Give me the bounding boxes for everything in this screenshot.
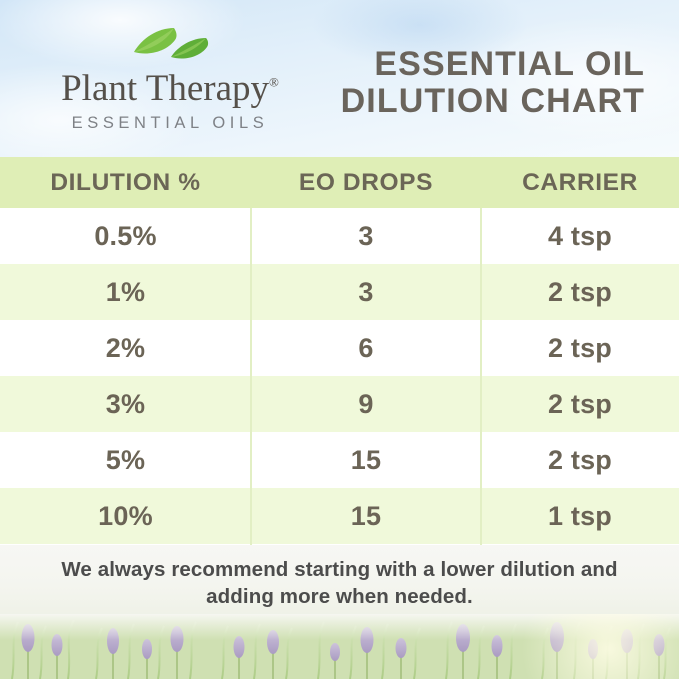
page-title-line2: DILUTION CHART [341,83,645,120]
column-header-carrier: CARRIER [481,157,679,208]
header-sky-background: Plant Therapy® ESSENTIAL OILS ESSENTIAL … [0,0,679,157]
cell-drops: 15 [251,432,481,488]
cell-dilution: 3% [0,376,251,432]
cell-dilution: 1% [0,264,251,320]
two-leaves-icon [128,26,212,66]
table-row: 3% 9 2 tsp [0,376,679,432]
brand-tagline: ESSENTIAL OILS [30,114,310,133]
dilution-table: DILUTION % EO DROPS CARRIER 0.5% 3 4 tsp… [0,157,679,545]
page-title: ESSENTIAL OIL DILUTION CHART [341,46,645,120]
footer-note-band: We always recommend starting with a lowe… [0,545,679,620]
cell-drops: 15 [251,488,481,544]
cell-drops: 3 [251,264,481,320]
dilution-chart-page: Plant Therapy® ESSENTIAL OILS ESSENTIAL … [0,0,679,679]
table-row: 1% 3 2 tsp [0,264,679,320]
registered-trademark-icon: ® [269,75,279,90]
cell-carrier: 2 tsp [481,264,679,320]
brand-wordmark-text: Plant Therapy [61,68,269,109]
cell-dilution: 2% [0,320,251,376]
cell-carrier: 2 tsp [481,432,679,488]
page-title-line1: ESSENTIAL OIL [341,46,645,83]
cell-carrier: 4 tsp [481,208,679,264]
cell-dilution: 10% [0,488,251,544]
lavender-field-illustration [0,614,679,679]
cell-dilution: 0.5% [0,208,251,264]
cell-carrier: 2 tsp [481,320,679,376]
brand-wordmark: Plant Therapy® [30,68,310,110]
column-divider-1 [250,208,252,545]
cell-drops: 6 [251,320,481,376]
table-row: 5% 15 2 tsp [0,432,679,488]
table-row: 0.5% 3 4 tsp [0,208,679,264]
column-header-dilution: DILUTION % [0,157,251,208]
cell-carrier: 1 tsp [481,488,679,544]
footer-note-text: We always recommend starting with a lowe… [0,556,679,610]
table-row: 2% 6 2 tsp [0,320,679,376]
cell-carrier: 2 tsp [481,376,679,432]
column-divider-2 [480,208,482,545]
column-header-eo-drops: EO DROPS [251,157,481,208]
brand-logo: Plant Therapy® ESSENTIAL OILS [30,26,310,133]
table-header-row: DILUTION % EO DROPS CARRIER [0,157,679,208]
lavender-field-image [0,614,679,679]
cell-drops: 3 [251,208,481,264]
header-content: Plant Therapy® ESSENTIAL OILS ESSENTIAL … [0,0,679,157]
table-row: 10% 15 1 tsp [0,488,679,544]
cell-drops: 9 [251,376,481,432]
cell-dilution: 5% [0,432,251,488]
